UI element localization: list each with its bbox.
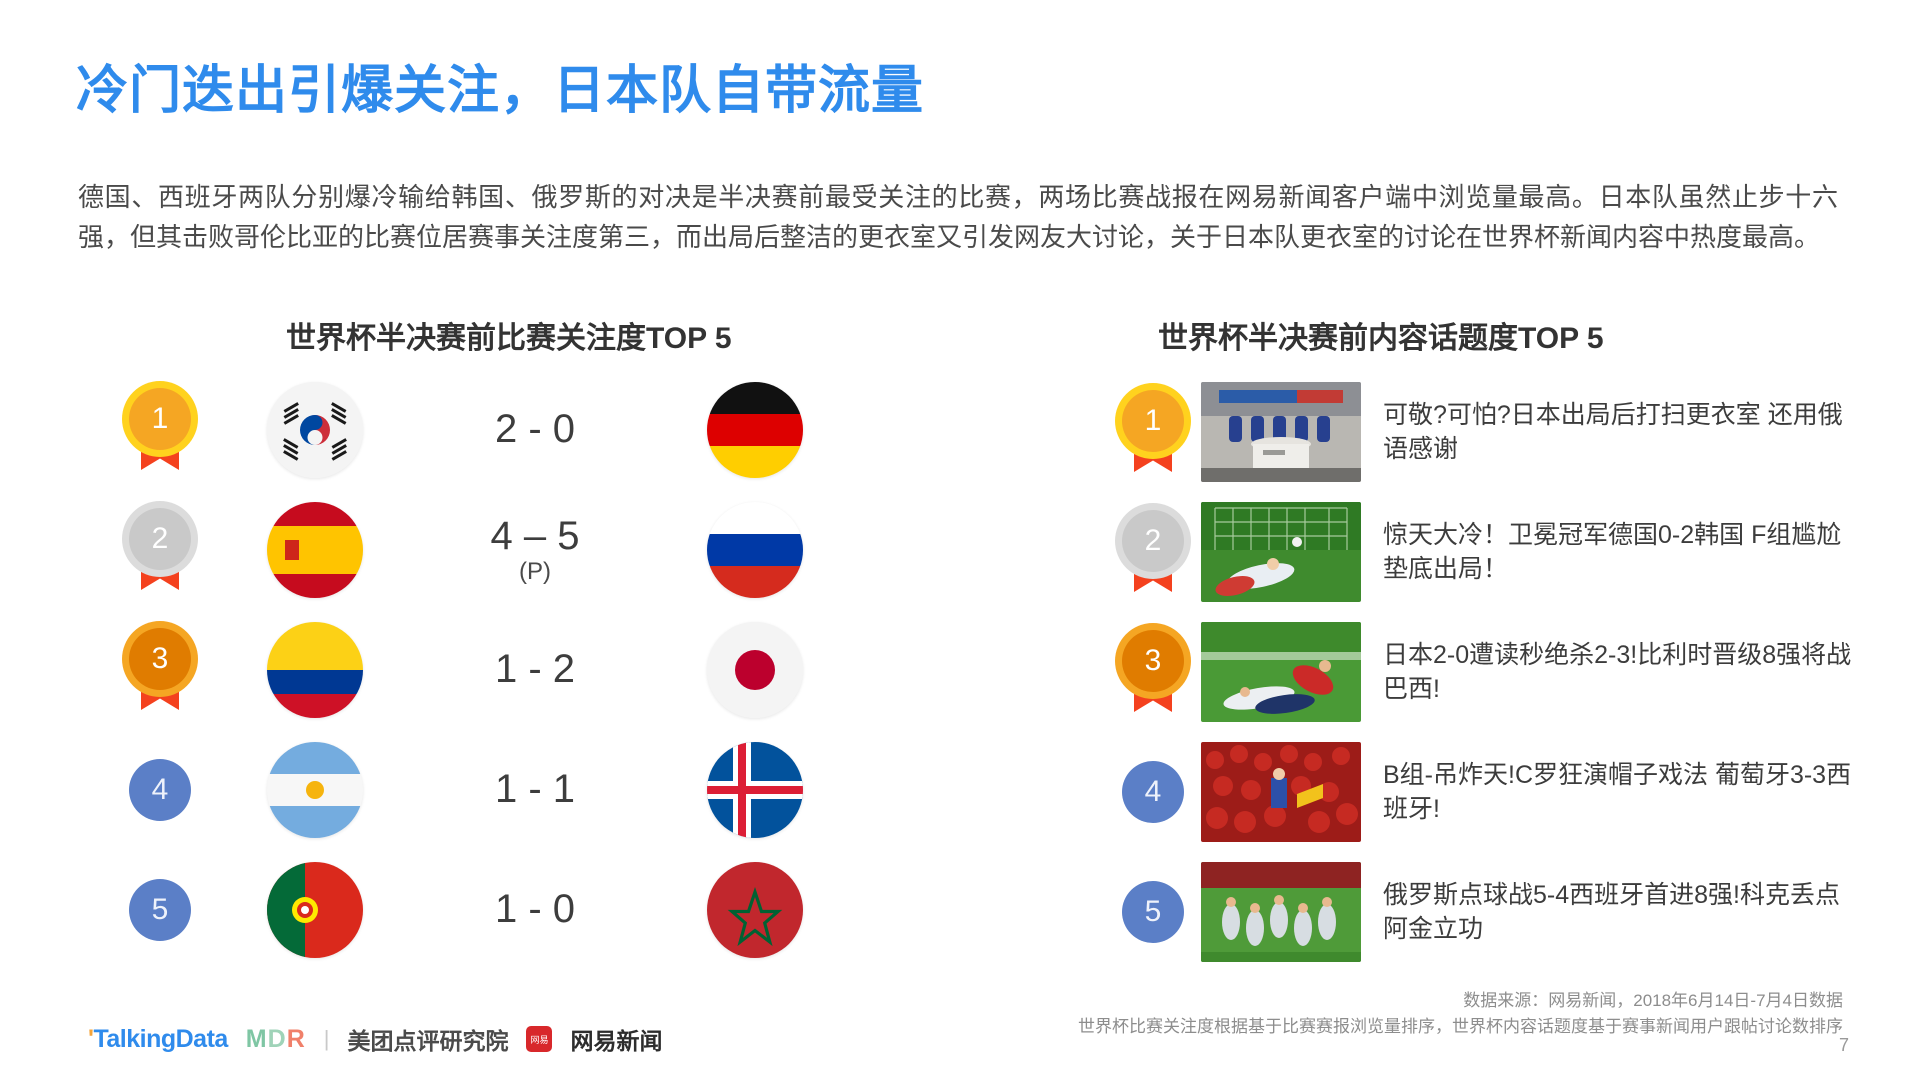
medal-bronze-icon: 3 xyxy=(129,628,191,712)
score-cell: 1 - 1 xyxy=(410,768,660,812)
medal-silver-icon: 2 xyxy=(1122,510,1184,594)
rank-cell: 4 xyxy=(100,759,220,821)
rank-cell: 5 xyxy=(100,879,220,941)
news-headline[interactable]: 可敬?可怕?日本出局后打扫更衣室 还用俄语感谢 xyxy=(1383,398,1853,467)
flag-germany-icon xyxy=(707,382,803,478)
rank-number: 2 xyxy=(1122,510,1184,572)
rank-cell: 4 xyxy=(1105,761,1201,823)
flag-argentina-icon xyxy=(267,742,363,838)
score-value: 1 - 1 xyxy=(495,767,575,811)
rank-number: 3 xyxy=(1122,630,1184,692)
rank-number: 1 xyxy=(129,388,191,450)
footer-logo-bar: 'TalkingData MDR | 美团点评研究院 网易 网易新闻 xyxy=(88,1022,662,1056)
rank-badge: 5 xyxy=(129,879,191,941)
table-row: 4 1 - 1 xyxy=(100,730,920,850)
rank-cell: 2 xyxy=(1105,510,1201,594)
flag-portugal-icon xyxy=(267,862,363,958)
page-title: 冷门迭出引爆关注，日本队自带流量 xyxy=(76,62,924,122)
away-team-cell xyxy=(660,862,850,958)
away-team-cell xyxy=(660,502,850,598)
rank-cell: 3 xyxy=(100,628,220,712)
away-team-cell xyxy=(660,742,850,838)
rank-badge: 5 xyxy=(1122,881,1184,943)
rank-cell: 2 xyxy=(100,508,220,592)
left-section-heading: 世界杯半决赛前比赛关注度TOP 5 xyxy=(286,313,732,357)
list-item[interactable]: 4 B组-吊炸天!C罗狂演帽子戏法 葡萄牙3-3西班牙! xyxy=(1105,732,1865,852)
home-team-cell xyxy=(220,862,410,958)
meituan-research-logo: 美团点评研究院 xyxy=(347,1022,508,1056)
rank-badge: 4 xyxy=(129,759,191,821)
news-headline[interactable]: 惊天大冷！卫冕冠军德国0-2韩国 F组尴尬垫底出局！ xyxy=(1383,518,1853,587)
netease-mark-icon: 网易 xyxy=(526,1026,552,1052)
news-headline[interactable]: 俄罗斯点球战5-4西班牙首进8强!科克丢点阿金立功 xyxy=(1383,878,1853,947)
medal-gold-icon: 1 xyxy=(1122,390,1184,474)
talkingdata-logo: 'TalkingData xyxy=(88,1025,228,1054)
mdr-logo: MDR xyxy=(246,1025,306,1054)
away-team-cell xyxy=(660,622,850,718)
score-cell: 4 – 5 (P) xyxy=(410,515,660,584)
medal-gold-icon: 1 xyxy=(129,388,191,472)
rank-number: 4 xyxy=(1145,775,1162,809)
list-item[interactable]: 3 日本2-0遭读秒绝杀2-3!比利时晋级8强将战巴西! xyxy=(1105,612,1865,732)
home-team-cell xyxy=(220,382,410,478)
score-cell: 1 - 0 xyxy=(410,888,660,932)
rank-cell: 3 xyxy=(1105,630,1201,714)
score-cell: 2 - 0 xyxy=(410,408,660,452)
slide-root: 冷门迭出引爆关注，日本队自带流量 德国、西班牙两队分别爆冷输给韩国、俄罗斯的对决… xyxy=(0,0,1921,1080)
rank-number: 5 xyxy=(152,893,169,927)
flag-colombia-icon xyxy=(267,622,363,718)
flag-spain-icon xyxy=(267,502,363,598)
home-team-cell xyxy=(220,622,410,718)
score-value: 1 - 2 xyxy=(495,647,575,691)
match-ranking-list: 1 xyxy=(100,370,920,970)
news-thumbnail-celebration[interactable] xyxy=(1201,862,1361,962)
news-headline[interactable]: B组-吊炸天!C罗狂演帽子戏法 葡萄牙3-3西班牙! xyxy=(1383,758,1853,827)
table-row: 5 1 - 0 xyxy=(100,850,920,970)
flag-russia-icon xyxy=(707,502,803,598)
news-thumbnail-players-on-pitch[interactable] xyxy=(1201,622,1361,722)
score-value: 4 – 5 xyxy=(491,514,580,558)
score-note: (P) xyxy=(410,559,660,584)
news-thumbnail-locker-room[interactable] xyxy=(1201,382,1361,482)
flag-japan-icon xyxy=(707,622,803,718)
list-item[interactable]: 1 可敬?可怕?日本出局后打扫更衣室 还用俄语感谢 xyxy=(1105,372,1865,492)
rank-number: 5 xyxy=(1145,895,1162,929)
page-number: 7 xyxy=(1839,1035,1849,1056)
score-cell: 1 - 2 xyxy=(410,648,660,692)
score-value: 2 - 0 xyxy=(495,407,575,451)
table-row: 1 xyxy=(100,370,920,490)
rank-number: 1 xyxy=(1122,390,1184,452)
flag-morocco-icon xyxy=(707,862,803,958)
away-team-cell xyxy=(660,382,850,478)
source-line-2: 世界杯比赛关注度根据基于比赛赛报浏览量排序，世界杯内容话题度基于赛事新闻用户跟帖… xyxy=(1078,1014,1843,1040)
netease-news-logo: 网易新闻 xyxy=(570,1022,662,1056)
flag-iceland-icon xyxy=(707,742,803,838)
table-row: 3 1 - 2 xyxy=(100,610,920,730)
rank-number: 3 xyxy=(129,628,191,690)
flag-south-korea-icon xyxy=(267,382,363,478)
source-line-1: 数据来源：网易新闻，2018年6月14日-7月4日数据 xyxy=(1078,988,1843,1014)
table-row: 2 4 – 5 (P) xyxy=(100,490,920,610)
score-value: 1 - 0 xyxy=(495,887,575,931)
right-section-heading: 世界杯半决赛前内容话题度TOP 5 xyxy=(1158,313,1604,357)
news-headline[interactable]: 日本2-0遭读秒绝杀2-3!比利时晋级8强将战巴西! xyxy=(1383,638,1853,707)
rank-cell: 1 xyxy=(1105,390,1201,474)
rank-cell: 5 xyxy=(1105,881,1201,943)
lede-paragraph: 德国、西班牙两队分别爆冷输给韩国、俄罗斯的对决是半决赛前最受关注的比赛，两场比赛… xyxy=(78,178,1838,257)
rank-number: 2 xyxy=(129,508,191,570)
news-ranking-list: 1 可敬?可怕?日本出局后打扫更衣室 还用俄语感谢 xyxy=(1105,372,1865,972)
home-team-cell xyxy=(220,742,410,838)
list-item[interactable]: 5 俄罗斯点球战5-4西班牙首进8强!科克丢点阿金立功 xyxy=(1105,852,1865,972)
news-thumbnail-goal-save[interactable] xyxy=(1201,502,1361,602)
rank-number: 4 xyxy=(152,773,169,807)
medal-bronze-icon: 3 xyxy=(1122,630,1184,714)
logo-divider: | xyxy=(324,1026,330,1052)
home-team-cell xyxy=(220,502,410,598)
rank-cell: 1 xyxy=(100,388,220,472)
medal-silver-icon: 2 xyxy=(129,508,191,592)
rank-badge: 4 xyxy=(1122,761,1184,823)
news-thumbnail-red-crowd[interactable] xyxy=(1201,742,1361,842)
list-item[interactable]: 2 惊天大冷！卫冕冠军 xyxy=(1105,492,1865,612)
source-note: 数据来源：网易新闻，2018年6月14日-7月4日数据 世界杯比赛关注度根据基于… xyxy=(1078,988,1843,1039)
